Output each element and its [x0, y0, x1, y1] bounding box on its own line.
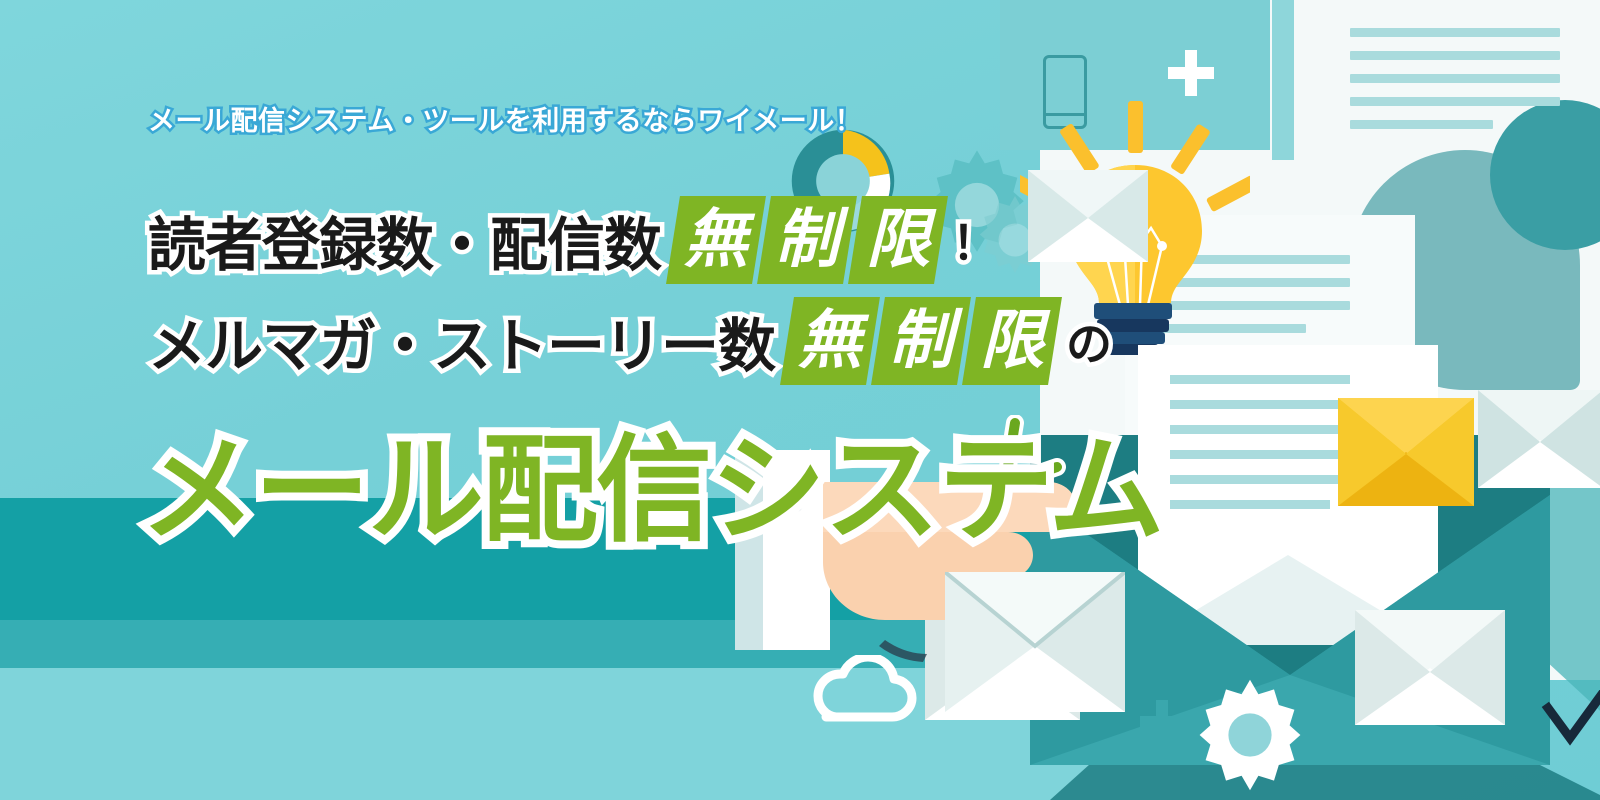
- subline-1-suffix: ！: [952, 207, 998, 273]
- gear-icon-white: [1190, 675, 1310, 795]
- green-box-6: 限: [962, 297, 1062, 385]
- hero-headline: メール配信システム: [140, 396, 1163, 564]
- subline-1-prefix: 読者登録数・配信数: [148, 198, 661, 282]
- green-box-1: 無: [666, 196, 766, 284]
- green-box-6-char: 限: [980, 309, 1044, 373]
- subline-1-boxes: 無 制 限: [673, 196, 946, 284]
- envelope-icon-yellow: [1338, 398, 1474, 506]
- green-box-4: 無: [780, 297, 880, 385]
- envelope-icon-small-3: [1478, 390, 1600, 488]
- green-box-2-char: 制: [775, 208, 839, 272]
- green-box-5-char: 制: [889, 309, 953, 373]
- hero-subline-1: 読者登録数・配信数 無 制 限 ！: [148, 196, 998, 284]
- green-box-1-char: 無: [684, 208, 748, 272]
- green-box-4-char: 無: [798, 309, 862, 373]
- hero-subline-2: メルマガ・ストーリー数 無 制 限 の: [148, 297, 1112, 385]
- green-box-3: 限: [848, 196, 948, 284]
- hero-banner: メール配信システム・ツールを利用するならワイメール！ 読者登録数・配信数 無 制…: [0, 0, 1600, 800]
- subline-2-prefix: メルマガ・ストーリー数: [148, 299, 775, 383]
- plus-icon-bottom: [1140, 700, 1184, 744]
- plus-icon: [1168, 50, 1214, 96]
- green-box-5: 制: [871, 297, 971, 385]
- subline-2-suffix: の: [1066, 308, 1112, 374]
- green-box-3-char: 限: [866, 208, 930, 272]
- hero-tagline: メール配信システム・ツールを利用するならワイメール！: [148, 99, 862, 138]
- document-lines-top: [1350, 28, 1560, 143]
- check-icon: [1540, 690, 1600, 760]
- envelope-icon-small-2: [1355, 610, 1505, 725]
- background-strip-teal: [1272, 0, 1294, 160]
- envelope-icon-small-4: [1028, 170, 1148, 262]
- green-box-2: 制: [757, 196, 857, 284]
- hero-copy: メール配信システム・ツールを利用するならワイメール！ 読者登録数・配信数 無 制…: [0, 0, 1040, 800]
- subline-2-boxes: 無 制 限: [787, 297, 1060, 385]
